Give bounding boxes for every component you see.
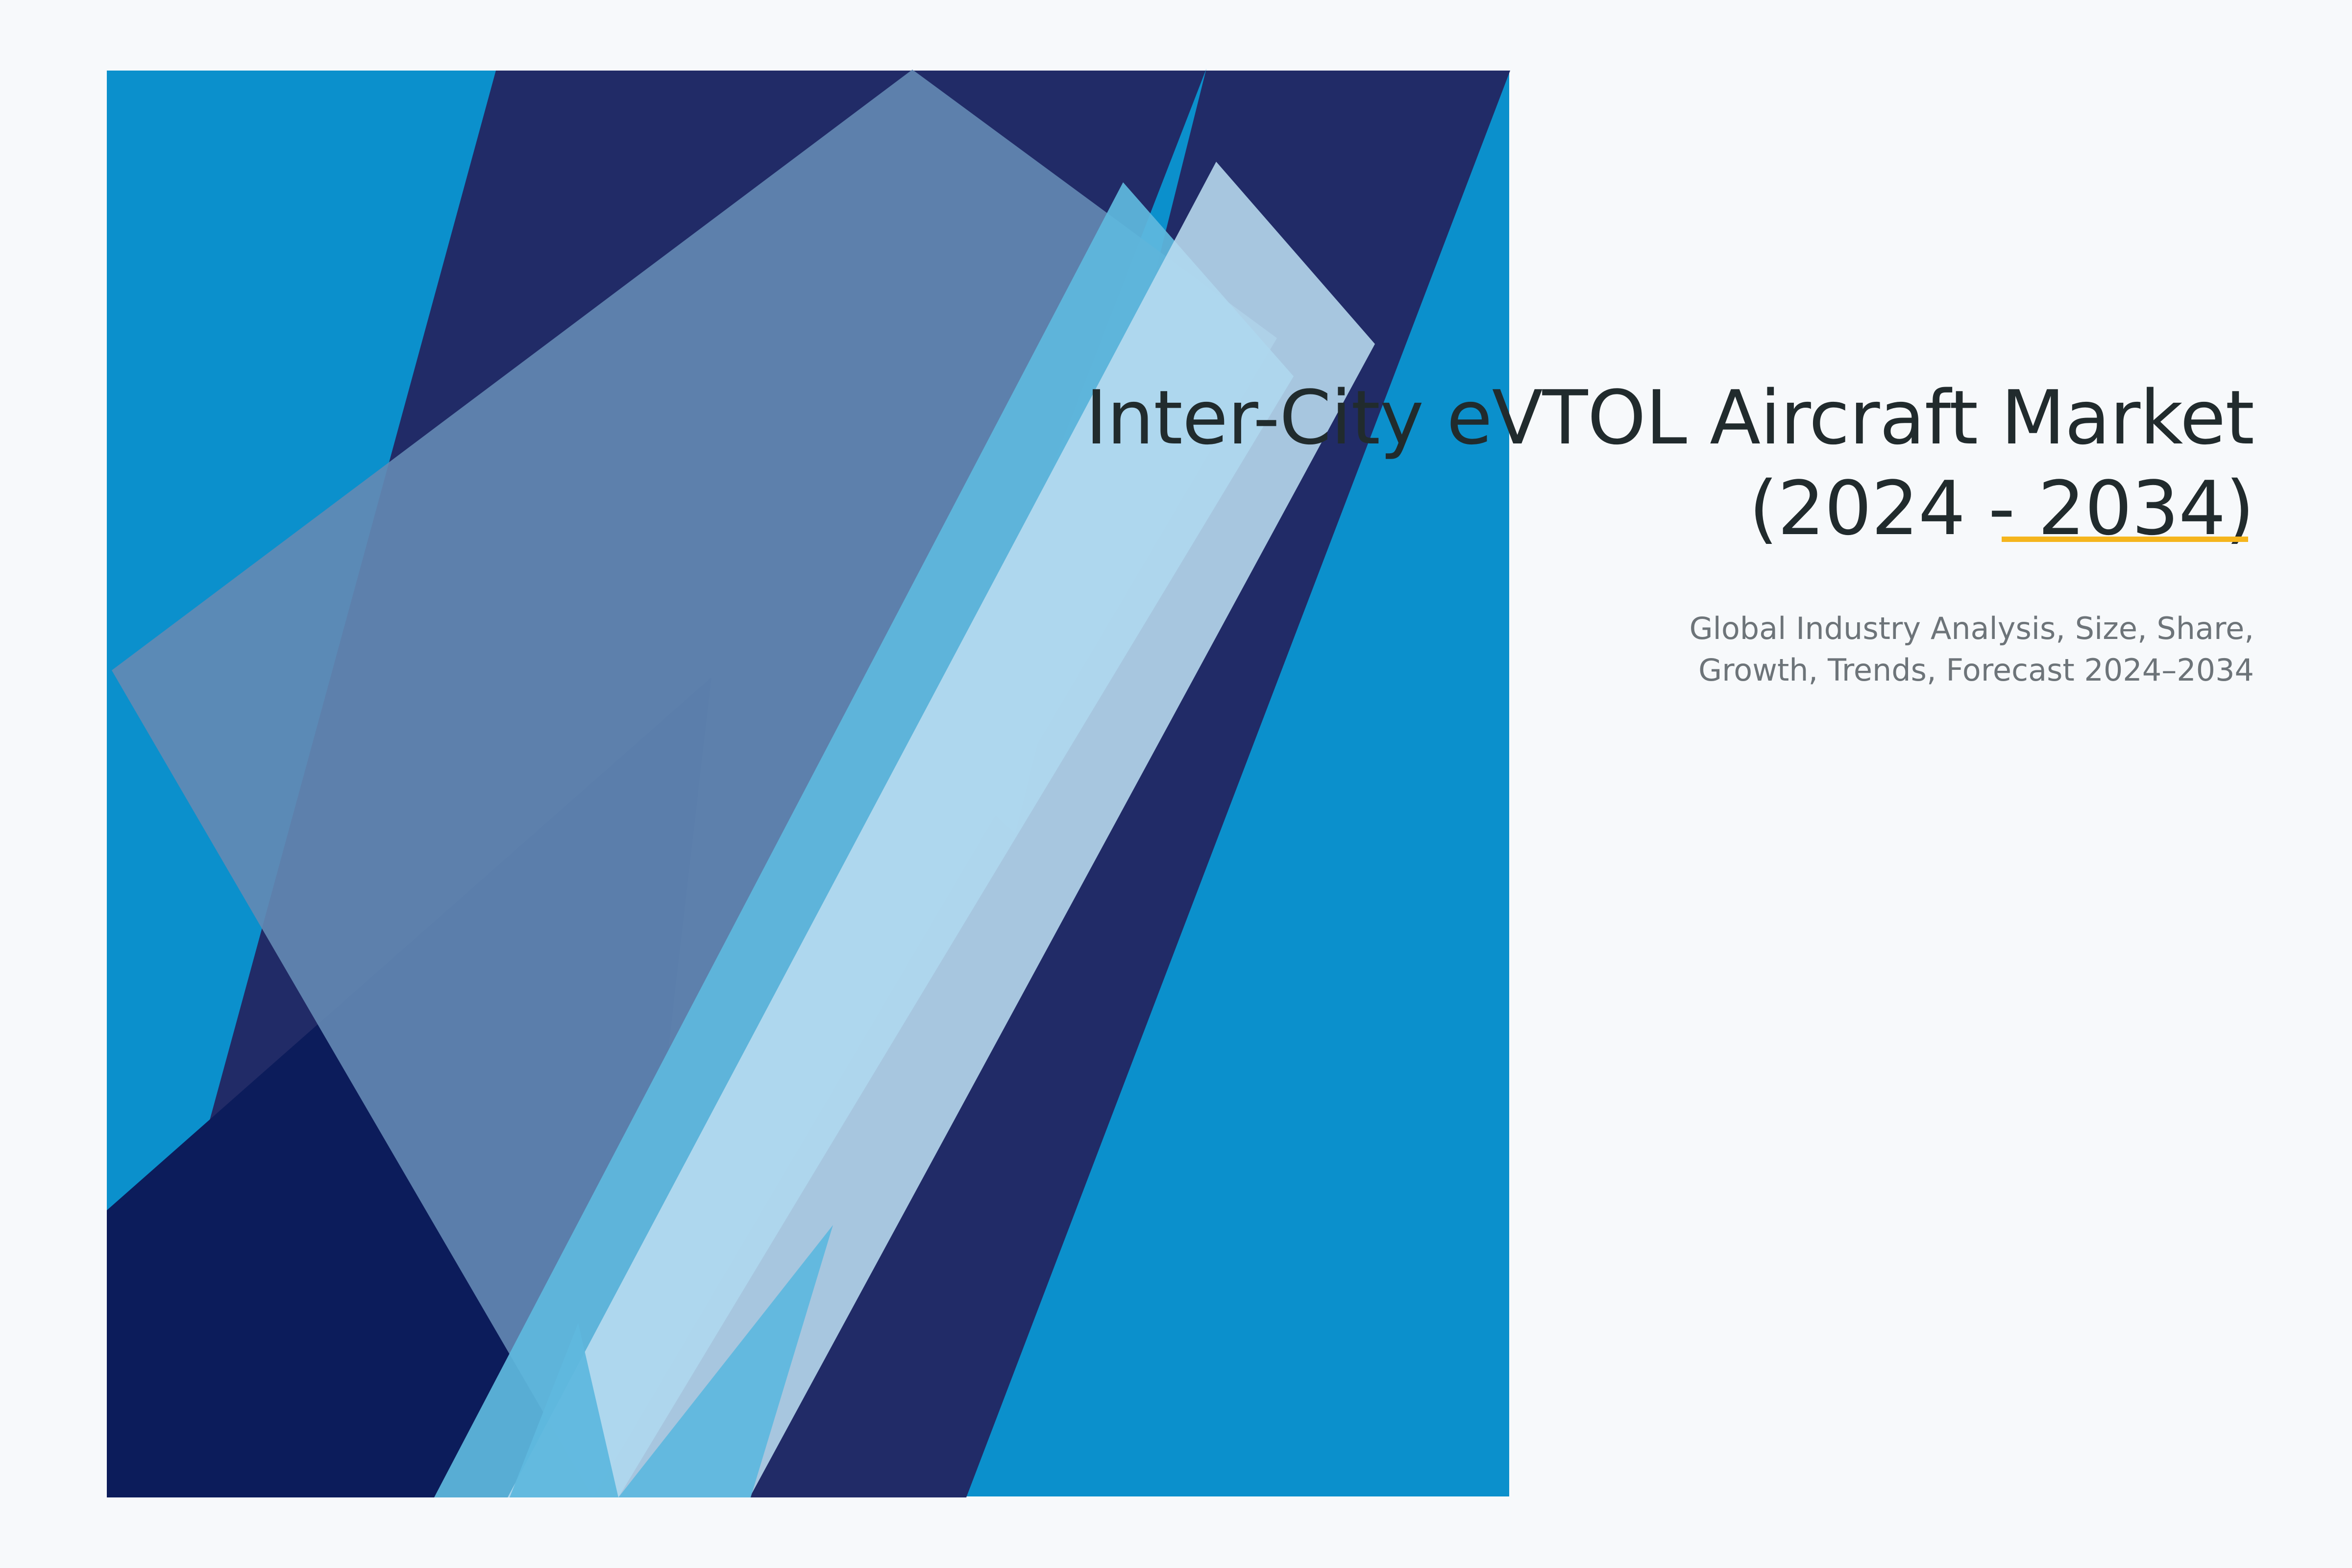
page-subtitle: Global Industry Analysis, Size, Share, G… [980, 554, 2254, 691]
report-cover-slide: Inter-City eVTOL Aircraft Market (2024 -… [0, 0, 2352, 1568]
cover-text-block: Inter-City eVTOL Aircraft Market (2024 -… [980, 372, 2254, 691]
page-title: Inter-City eVTOL Aircraft Market (2024 -… [980, 372, 2254, 554]
page-subtitle-line-1: Global Industry Analysis, Size, Share, [980, 608, 2254, 650]
title-underline-bar [2002, 537, 2248, 542]
page-subtitle-line-2: Growth, Trends, Forecast 2024–2034 [980, 650, 2254, 691]
page-title-line-1: Inter-City eVTOL Aircraft Market [980, 372, 2254, 463]
abstract-polygon-decoration [0, 0, 2352, 1568]
